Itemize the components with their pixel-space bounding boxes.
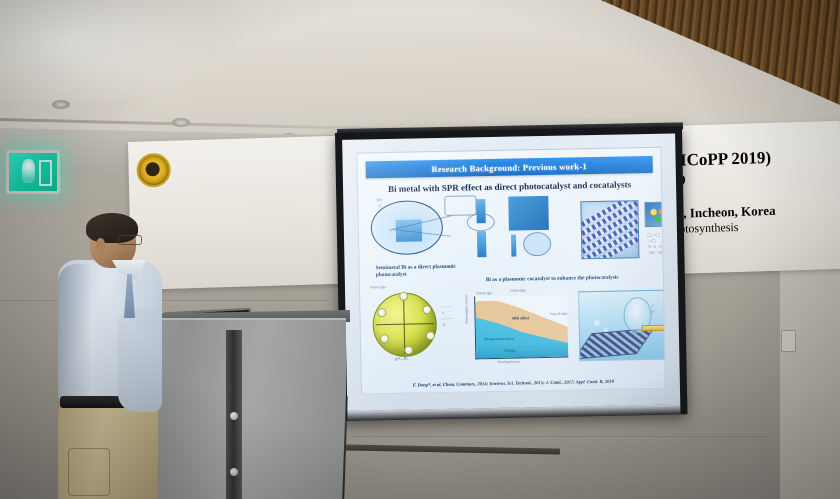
projection-screen: Research Background: Previous work-1 Bi … [335,126,687,421]
presentation-slide: Research Background: Previous work-1 Bi … [356,147,666,395]
presenter [58,216,168,499]
figure-bubble [604,328,608,332]
door-icon [39,160,52,186]
ceiling-light-glow [0,0,220,110]
figure-bar-2 [477,231,486,257]
sphere-dot [422,305,431,314]
figure-nanoparticle-sphere [372,292,437,357]
figure-mechanism-labels: NH O2 [376,197,383,211]
figure-layered-structure [580,200,639,259]
wall-outlet [781,330,796,352]
chart-label-carriers: Photogenerated carriers [484,337,514,342]
chart-label-spr: SPR effect [512,315,530,320]
slide-subtitle: Bi metal with SPR effect as direct photo… [358,179,661,195]
chart-label-uv: UV-light [504,349,515,353]
slide-caption-center: Bi as a plasmonic cocatalyst to enhance … [486,273,666,283]
figure-energy-scheme: −—— e⁻——— h⁺ [440,304,452,328]
glasses-icon [118,235,142,245]
figure-area-chart: SPR effect Photogenerated carriers UV-li… [474,295,568,360]
sphere-dot [404,346,413,355]
sphere-dot [377,308,386,317]
running-person-icon [22,159,35,183]
wall-seam [350,436,770,437]
slide-title: Research Background: Previous work-1 [431,161,587,174]
chart-tick-mid: Visible-light [510,288,526,292]
figure-circle-detail [523,232,551,257]
chart-ylabel: Photocatalytic activity [464,295,469,324]
presenter-ear [96,238,105,251]
slide-citation: F. Dong*, et al, Chem. Commun., 2014; En… [370,378,657,389]
slide-caption-left: Semimetal Bi as a direct plasmonic photo… [376,264,462,279]
figure-vial [511,235,516,257]
figure-bar-1 [476,199,485,223]
sphere-top-label: Visible light [370,285,386,289]
downlight-icon [172,118,190,127]
chart-region-uv [476,343,568,358]
chart-xlabel: Wavelength (nm) [497,359,519,364]
figure-bubble [594,320,600,326]
figure-2d-sheet [578,328,655,360]
sphere-dot [426,331,435,340]
sphere-bottom-label: g-C₃N₄ [395,356,408,362]
presenter-shirt-shadow [58,264,92,400]
screen-surface: Research Background: Previous work-1 Bi … [342,133,680,410]
sphere-dot [399,292,408,301]
figure-band-bar [642,325,666,332]
sphere-dot [380,334,389,343]
presenter-arm [118,308,162,412]
podium-fastener [230,412,238,420]
figure-photocatalysis-panel: e⁻h⁺ [578,289,666,361]
chart-tick-right: Near-IR light [550,312,567,316]
downlight-icon [52,100,70,109]
figure-molecule-schemes: ◯—◯ ◯—◯ N O N O NO NO2 [647,232,666,258]
slide-title-bar: Research Background: Previous work-1 [366,156,653,179]
figure-heatmap-1 [644,202,666,228]
podium-fastener [230,468,238,476]
figure-panel-labels: e⁻h⁺ [651,303,655,315]
exit-sign-icon [6,150,60,194]
chart-tick-left: Visible light [476,291,492,295]
figure-reaction-scheme [436,191,509,244]
conference-room-photo: International Confe & Annu Date: May 22n… [0,0,840,499]
presenter-pocket [68,448,110,496]
figure-square-panel [508,196,549,231]
